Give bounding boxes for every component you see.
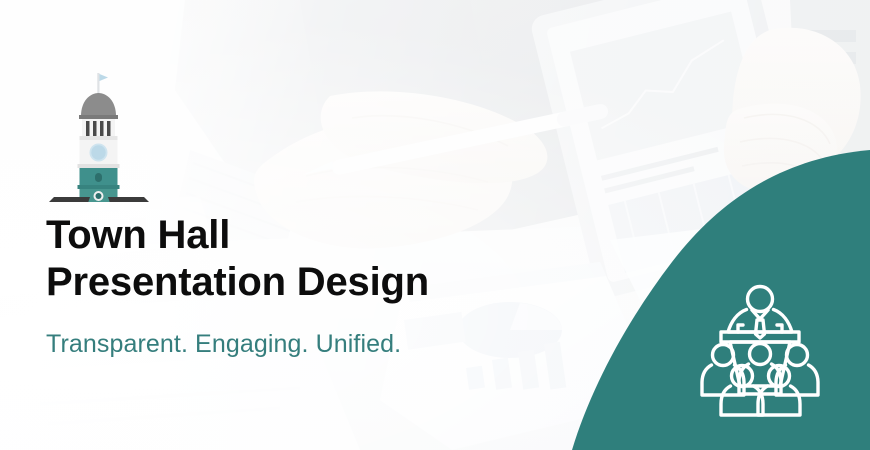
speaker-podium-audience-artwork	[697, 282, 823, 418]
slide-text-block: Town Hall Presentation Design Transparen…	[46, 212, 586, 359]
presentation-slide: Town Hall Presentation Design Transparen…	[0, 0, 870, 450]
page-title: Town Hall Presentation Design	[46, 212, 586, 306]
page-subtitle: Transparent. Engaging. Unified.	[46, 329, 586, 359]
town-hall-building-artwork	[38, 68, 160, 202]
town-hall-building-icon	[38, 68, 160, 202]
speaker-podium-audience-icon	[697, 282, 823, 418]
